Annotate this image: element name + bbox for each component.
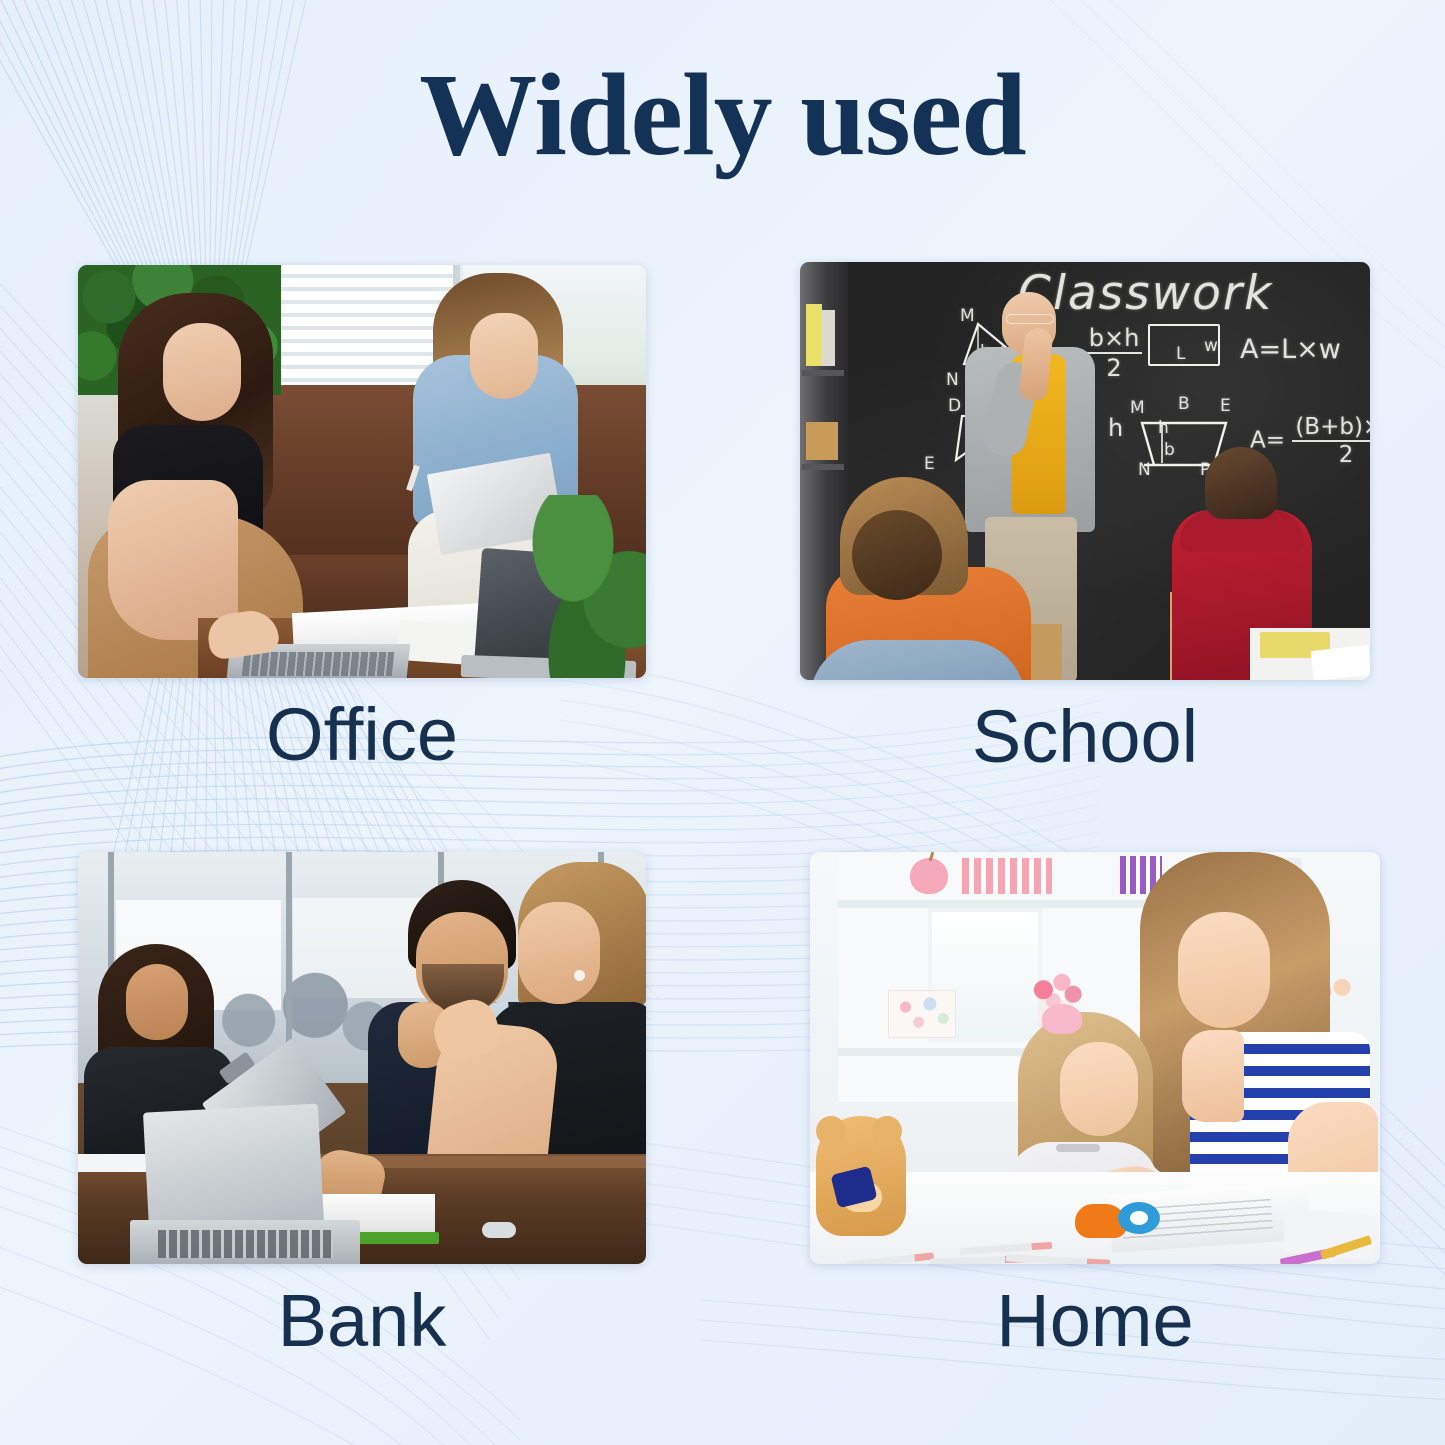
teddy-bear-ear-left [816,1116,846,1146]
chalk-label-L: L [1176,344,1185,364]
bank-scene [78,852,646,1264]
chalk-label-h2: h [1158,418,1169,438]
photo-home [810,852,1380,1264]
apple-decoration-icon [910,858,948,894]
floral-box [888,990,956,1038]
earring-icon [574,970,585,981]
laptop-screen [143,1104,324,1233]
woman-black-face [163,323,241,421]
laptop-keyboard [242,652,395,676]
chalkboard-heading: Classwork [1018,266,1273,321]
shelf-box [806,422,838,460]
photo-bank [78,852,646,1264]
chalk-label-h: h [1108,414,1123,442]
use-case-card-bank[interactable]: Bank [78,852,646,1322]
woman-black-arm [108,480,238,640]
chalk-label-D: D [948,396,961,416]
student-blue-foreground [810,640,1025,680]
school-scene: Classwork = b×h2 L w A=L×w h M B E N P b [800,262,1370,680]
chalk-formula-rectangle: A=L×w [1240,334,1341,365]
girl-face [1060,1042,1138,1136]
caption-bank: Bank [78,1284,646,1358]
books-pink [962,858,1052,894]
laptop-keyboard [158,1230,333,1258]
desk-paper [1311,645,1370,680]
teddy-bear-ear-right [872,1116,902,1146]
plant-right-icon [531,495,646,678]
chalk-label-M: M [1130,398,1145,418]
use-case-card-office[interactable]: Office [78,265,646,735]
mother-shoulder [1182,1030,1244,1122]
girl-dress-strap [1056,1144,1100,1152]
woman-right-face [518,902,600,1004]
caption-office: Office [78,698,646,772]
shelf-book-white [822,310,835,366]
hair-bow-icon [1042,1004,1082,1034]
use-case-card-home[interactable]: Home [810,852,1380,1322]
chalk-label-E: E [1220,396,1231,416]
chalk-label-w: w [1204,336,1218,356]
home-scene [810,852,1380,1264]
student-hair-bun [852,510,942,600]
shelf-board-2 [802,464,844,470]
shelf-board-1 [802,370,844,376]
caption-school: School [800,700,1370,774]
caption-home: Home [810,1284,1380,1358]
page-title: Widely used [0,56,1445,174]
glasses-icon [1006,314,1054,324]
mother-face [1178,912,1270,1028]
use-case-card-school[interactable]: Classwork = b×h2 L w A=L×w h M B E N P b [800,262,1370,732]
chalk-label-M2: M [960,306,975,326]
use-case-gallery: Office Classwork = b×h2 L w A=L×w h [0,0,1445,1445]
play-dough-blue [1118,1202,1160,1234]
chalk-label-b: b [1164,440,1175,460]
chalk-label-N: N [1138,460,1151,480]
shelf-book-yellow [806,304,822,366]
woman-left-face [126,964,188,1040]
office-scene [78,265,646,678]
student-red-hair [1205,447,1277,519]
woman-blue-face [470,313,538,399]
photo-school: Classwork = b×h2 L w A=L×w h M B E N P b [800,262,1370,680]
chalk-label-E2: E [924,454,935,474]
bracelet-icon [482,1222,516,1238]
chalk-label-B: B [1178,394,1190,414]
chalk-label-N2: N [946,370,959,390]
photo-office [78,265,646,678]
